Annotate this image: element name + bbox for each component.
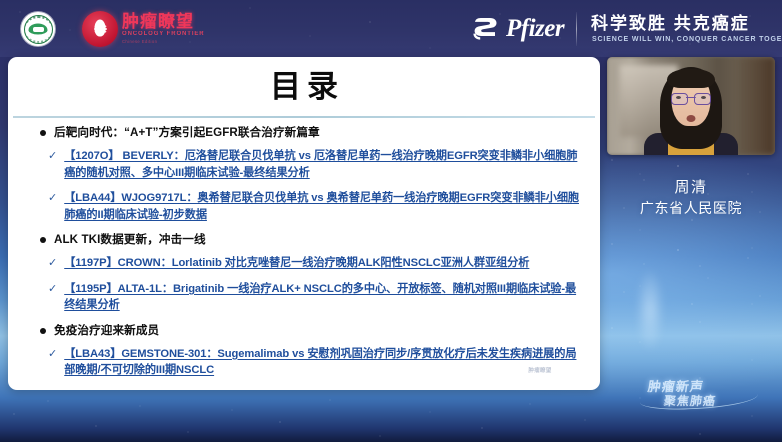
list-item[interactable]: ✓ 【1195P】ALTA-1L：Brigatinib 一线治疗ALK+ NSC…: [48, 281, 592, 314]
video-background-shadow: [738, 57, 775, 155]
background-light-beam: [630, 250, 670, 370]
title-divider: [13, 116, 595, 118]
filled-circle-bullet-icon: [40, 130, 46, 136]
journal-logo-cn: 肿瘤瞭望: [122, 12, 194, 31]
slide-watermark: 肿瘤瞭望: [518, 368, 562, 386]
list-item-label[interactable]: 【1195P】ALTA-1L：Brigatinib 一线治疗ALK+ NSCLC…: [64, 281, 584, 314]
list-item-label[interactable]: 【1197P】CROWN：Lorlatinib 对比克唑替尼一线治疗晚期ALK阳…: [64, 255, 529, 272]
journal-logo-en: ONCOLOGY FRONTIER: [122, 31, 205, 37]
check-mark-icon: ✓: [48, 255, 57, 271]
toc-section-heading-label: 后靶向时代：“A+T”方案引起EGFR联合治疗新篇章: [54, 125, 320, 141]
society-emblem-core: [29, 24, 48, 35]
program-logo: 肿瘤新声 聚焦肺癌: [638, 374, 760, 418]
check-mark-icon: ✓: [48, 148, 57, 164]
check-mark-icon: ✓: [48, 346, 57, 362]
society-emblem-icon: [21, 12, 55, 46]
background-stars-right: [600, 150, 782, 330]
presentation-screenshot: 肿瘤瞭望 ONCOLOGY FRONTIER Chinese Edition P…: [0, 0, 782, 442]
slide-card: 目录 后靶向时代：“A+T”方案引起EGFR联合治疗新篇章 ✓ 【1207O】 …: [8, 57, 600, 390]
journal-logo-en-sub: Chinese Edition: [122, 39, 157, 44]
list-item[interactable]: ✓ 【1197P】CROWN：Lorlatinib 对比克唑替尼一线治疗晚期AL…: [48, 255, 592, 272]
presenter-fringe: [667, 69, 715, 88]
list-item-label[interactable]: 【LBA43】GEMSTONE-301：Sugemalimab vs 安慰剂巩固…: [64, 346, 584, 379]
crab-body-icon: [95, 20, 106, 37]
toc-section-heading: 免疫治疗迎来新成员: [40, 323, 592, 339]
page-title: 目录: [8, 67, 600, 107]
presenter-organization: 广东省人民医院: [607, 199, 775, 217]
list-item-label[interactable]: 【1207O】 BEVERLY：厄洛替尼联合贝伐单抗 vs 厄洛替尼单药一线治疗…: [64, 148, 584, 181]
sponsor-logo: Pfizer: [472, 13, 564, 45]
filled-circle-bullet-icon: [40, 237, 46, 243]
list-item[interactable]: ✓ 【LBA43】GEMSTONE-301：Sugemalimab vs 安慰剂…: [48, 346, 592, 379]
toc-section-heading: ALK TKI数据更新，冲击一线: [40, 232, 592, 248]
check-mark-icon: ✓: [48, 281, 57, 297]
table-of-contents: 后靶向时代：“A+T”方案引起EGFR联合治疗新篇章 ✓ 【1207O】 BEV…: [26, 125, 592, 388]
presenter-mouth: [687, 115, 696, 122]
slogan-en: SCIENCE WILL WIN, CONQUER CANCER TOGETHE…: [592, 36, 782, 43]
glasses-icon: [671, 93, 711, 104]
check-mark-icon: ✓: [48, 190, 57, 206]
toc-group: ALK TKI数据更新，冲击一线 ✓ 【1197P】CROWN：Lorlatin…: [26, 232, 592, 314]
toc-group: 后靶向时代：“A+T”方案引起EGFR联合治疗新篇章 ✓ 【1207O】 BEV…: [26, 125, 592, 223]
list-item[interactable]: ✓ 【LBA44】WJOG9717L：奥希替尼联合贝伐单抗 vs 奥希替尼单药一…: [48, 190, 592, 223]
sponsor-name: Pfizer: [506, 16, 564, 42]
list-item[interactable]: ✓ 【1207O】 BEVERLY：厄洛替尼联合贝伐单抗 vs 厄洛替尼单药一线…: [48, 148, 592, 181]
program-logo-line2: 聚焦肺癌: [663, 392, 717, 409]
toc-section-heading-label: 免疫治疗迎来新成员: [54, 323, 159, 339]
slogan-cn: 科学致胜 共克癌症: [591, 14, 750, 34]
presenter-name: 周清: [607, 178, 775, 197]
toc-section-heading: 后靶向时代：“A+T”方案引起EGFR联合治疗新篇章: [40, 125, 592, 141]
presenter-video-feed[interactable]: [607, 57, 775, 155]
list-item-label[interactable]: 【LBA44】WJOG9717L：奥希替尼联合贝伐单抗 vs 奥希替尼单药一线治…: [64, 190, 584, 223]
filled-circle-bullet-icon: [40, 328, 46, 334]
crab-icon: [82, 11, 118, 47]
header-divider: [576, 12, 577, 46]
toc-group: 免疫治疗迎来新成员 ✓ 【LBA43】GEMSTONE-301：Sugemali…: [26, 323, 592, 379]
toc-section-heading-label: ALK TKI数据更新，冲击一线: [54, 232, 206, 248]
pfizer-logo-icon: [472, 17, 498, 41]
